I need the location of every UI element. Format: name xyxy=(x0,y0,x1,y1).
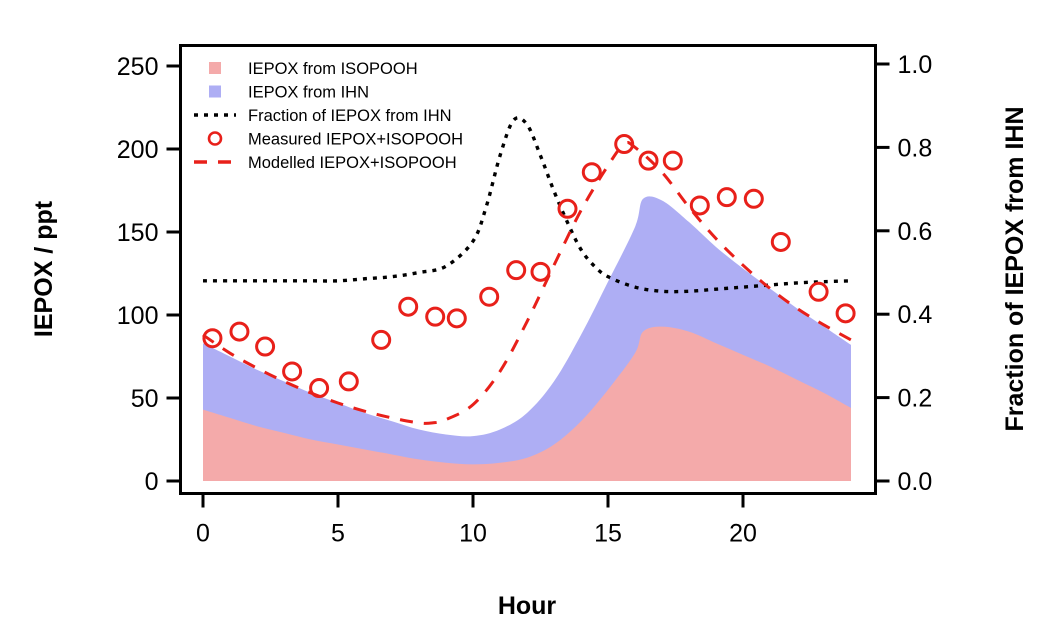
chart-figure: 05101520 050100150200250 0.00.20.40.60.8… xyxy=(0,0,1059,639)
x-tick-label: 5 xyxy=(331,520,345,548)
x-tick-label: 10 xyxy=(459,520,487,548)
y-tick-label: 0 xyxy=(145,468,159,496)
legend-label: Fraction of IEPOX from IHN xyxy=(248,107,452,125)
legend-label: Measured IEPOX+ISOPOOH xyxy=(248,131,463,149)
y-tick-label: 200 xyxy=(117,136,159,164)
y2-tick-label: 1.0 xyxy=(898,51,933,79)
x-tick-label: 0 xyxy=(196,520,210,548)
y-tick-label: 50 xyxy=(131,385,159,413)
legend-swatch-2 xyxy=(209,86,221,98)
y2-tick-label: 0.8 xyxy=(898,134,933,162)
legend-label: IEPOX from IHN xyxy=(248,84,369,102)
legend-swatch-1 xyxy=(209,62,221,74)
y-tick-label: 100 xyxy=(117,302,159,330)
x-tick-label: 15 xyxy=(594,520,622,548)
x-axis-title: Hour xyxy=(498,592,557,620)
y2-tick-label: 0.2 xyxy=(898,385,933,413)
x-tick-label: 20 xyxy=(729,520,757,548)
y2-tick-label: 0.6 xyxy=(898,218,933,246)
chart-svg: 05101520 050100150200250 0.00.20.40.60.8… xyxy=(0,0,1059,639)
y-tick-label: 250 xyxy=(117,53,159,81)
y-tick-label: 150 xyxy=(117,219,159,247)
y-axis-title: IEPOX / ppt xyxy=(30,200,58,337)
y2-axis-title: Fraction of IEPOX from IHN xyxy=(1001,106,1029,431)
y2-tick-label: 0.4 xyxy=(898,301,933,329)
y2-tick-label: 0.0 xyxy=(898,468,933,496)
legend-label: Modelled IEPOX+ISOPOOH xyxy=(248,154,457,172)
legend-label: IEPOX from ISOPOOH xyxy=(248,60,418,78)
